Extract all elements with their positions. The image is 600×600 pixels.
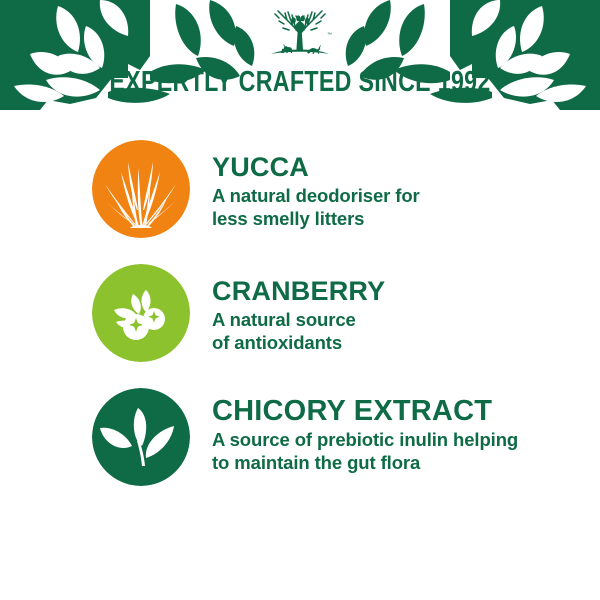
feature-title-chicory: CHICORY EXTRACT (212, 396, 518, 426)
feature-text-chicory: CHICORY EXTRACT A source of prebiotic in… (190, 388, 518, 474)
yucca-plant-icon (92, 140, 190, 238)
feature-desc-line: less smelly litters (212, 207, 420, 230)
cranberry-berries-icon (92, 264, 190, 362)
feature-desc-chicory: A source of prebiotic inulin helping to … (212, 428, 518, 474)
tree-paw-logo: ™ (263, 8, 337, 64)
feature-title-cranberry: CRANBERRY (212, 276, 385, 306)
feature-text-yucca: YUCCA A natural deodoriser for less smel… (190, 140, 420, 230)
feature-desc-line: to maintain the gut flora (212, 451, 518, 474)
feature-desc-cranberry: A natural source of antioxidants (212, 308, 385, 354)
chicory-leaves-icon (92, 388, 190, 486)
feature-desc-yucca: A natural deodoriser for less smelly lit… (212, 184, 420, 230)
feature-title-yucca: YUCCA (212, 152, 420, 182)
feature-desc-line: A source of prebiotic inulin helping (212, 428, 518, 451)
header-banner: ™ EXPERTLY CRAFTED SINCE 1992 (0, 0, 600, 118)
feature-desc-line: of antioxidants (212, 331, 385, 354)
feature-desc-line: A natural deodoriser for (212, 184, 420, 207)
page-title: EXPERTLY CRAFTED SINCE 1992 (60, 64, 540, 100)
feature-item-cranberry: CRANBERRY A natural source of antioxidan… (0, 264, 600, 362)
feature-item-chicory: CHICORY EXTRACT A source of prebiotic in… (0, 388, 600, 486)
feature-desc-line: A natural source (212, 308, 385, 331)
ingredient-feature-list: YUCCA A natural deodoriser for less smel… (0, 140, 600, 512)
svg-text:™: ™ (327, 32, 332, 38)
feature-item-yucca: YUCCA A natural deodoriser for less smel… (0, 140, 600, 238)
feature-text-cranberry: CRANBERRY A natural source of antioxidan… (190, 264, 385, 354)
